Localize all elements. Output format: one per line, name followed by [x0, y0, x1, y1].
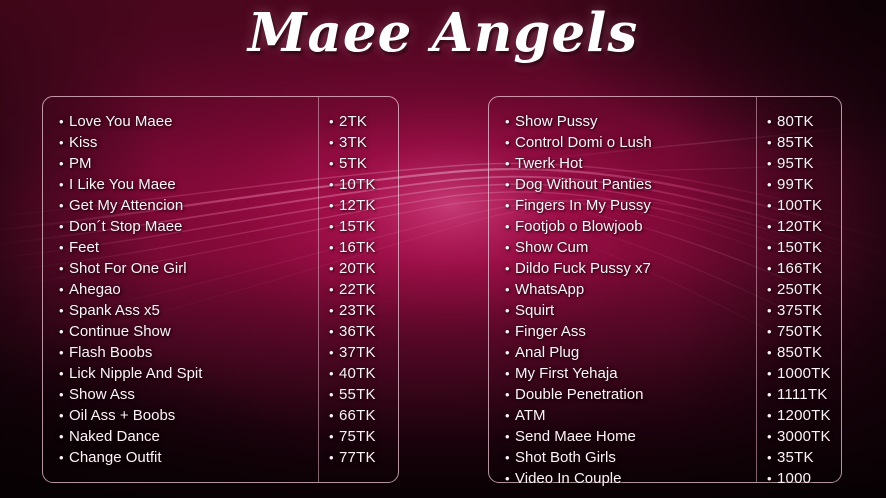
menu-item-row: •Oil Ass + Boobs [59, 405, 318, 426]
bullet-icon: • [505, 426, 515, 447]
menu-item-row: •Video In Couple [505, 468, 756, 489]
menu-item-price: 100TK [777, 197, 822, 214]
bullet-icon: • [329, 384, 339, 405]
menu-item-label: WhatsApp [515, 281, 584, 298]
menu-item-row: •Control Domi o Lush [505, 132, 756, 153]
menu-item-label: Send Maee Home [515, 428, 636, 445]
bullet-icon: • [767, 174, 777, 195]
menu-price-row: •22TK [329, 279, 398, 300]
menu-item-label: Kiss [69, 134, 97, 151]
menu-item-row: •Love You Maee [59, 111, 318, 132]
menu-item-label: Show Cum [515, 239, 588, 256]
menu-item-label: Spank Ass x5 [69, 302, 160, 319]
menu-price-row: •10TK [329, 174, 398, 195]
bullet-icon: • [329, 237, 339, 258]
menu-item-row: •Dildo Fuck Pussy x7 [505, 258, 756, 279]
menu-items-column-left: •Love You Maee•Kiss•PM•I Like You Maee•G… [43, 97, 318, 482]
bullet-icon: • [505, 237, 515, 258]
menu-item-label: Twerk Hot [515, 155, 583, 172]
menu-item-row: •Show Ass [59, 384, 318, 405]
bullet-icon: • [329, 321, 339, 342]
menu-item-row: •Feet [59, 237, 318, 258]
bullet-icon: • [767, 216, 777, 237]
bullet-icon: • [767, 363, 777, 384]
menu-item-price: 23TK [339, 302, 376, 319]
menu-item-price: 1111TK [777, 386, 827, 403]
menu-item-label: I Like You Maee [69, 176, 176, 193]
menu-item-price: 37TK [339, 344, 376, 361]
bullet-icon: • [505, 363, 515, 384]
menu-price-row: •99TK [767, 174, 841, 195]
bullet-icon: • [767, 447, 777, 468]
menu-item-label: Anal Plug [515, 344, 579, 361]
bullet-icon: • [505, 132, 515, 153]
menu-item-price: 12TK [339, 197, 376, 214]
menu-item-price: 250TK [777, 281, 822, 298]
menu-item-label: ATM [515, 407, 546, 424]
menu-price-row: •37TK [329, 342, 398, 363]
menu-item-price: 35TK [777, 449, 814, 466]
menu-item-price: 3TK [339, 134, 367, 151]
menu-item-row: •Naked Dance [59, 426, 318, 447]
bullet-icon: • [505, 321, 515, 342]
bullet-icon: • [329, 279, 339, 300]
tip-menu-card: Maee Angels •Love You Maee•Kiss•PM•I Lik… [0, 0, 886, 498]
menu-item-label: Double Penetration [515, 386, 643, 403]
menu-price-row: •20TK [329, 258, 398, 279]
bullet-icon: • [767, 321, 777, 342]
menu-item-row: •Don´t Stop Maee [59, 216, 318, 237]
bullet-icon: • [59, 300, 69, 321]
bullet-icon: • [329, 132, 339, 153]
bullet-icon: • [59, 216, 69, 237]
bullet-icon: • [59, 363, 69, 384]
bullet-icon: • [329, 342, 339, 363]
menu-item-price: 77TK [339, 449, 376, 466]
bullet-icon: • [329, 216, 339, 237]
menu-item-label: Naked Dance [69, 428, 160, 445]
menu-item-row: •Lick Nipple And Spit [59, 363, 318, 384]
menu-item-price: 10TK [339, 176, 376, 193]
menu-price-row: •80TK [767, 111, 841, 132]
menu-item-label: Show Pussy [515, 113, 598, 130]
menu-item-row: •Twerk Hot [505, 153, 756, 174]
menu-item-row: •Kiss [59, 132, 318, 153]
bullet-icon: • [767, 468, 777, 489]
menu-item-label: Dildo Fuck Pussy x7 [515, 260, 651, 277]
menu-item-row: •My First Yehaja [505, 363, 756, 384]
bullet-icon: • [767, 153, 777, 174]
menu-item-row: •ATM [505, 405, 756, 426]
menu-item-label: Control Domi o Lush [515, 134, 652, 151]
menu-price-row: •77TK [329, 447, 398, 468]
menu-item-price: 80TK [777, 113, 814, 130]
menu-price-row: •3000TK [767, 426, 841, 447]
bullet-icon: • [59, 132, 69, 153]
menu-price-row: •120TK [767, 216, 841, 237]
menu-price-row: •150TK [767, 237, 841, 258]
menu-item-price: 1000 [777, 470, 811, 487]
menu-item-label: Ahegao [69, 281, 121, 298]
menu-price-row: •850TK [767, 342, 841, 363]
menu-item-price: 20TK [339, 260, 376, 277]
menu-item-row: •Squirt [505, 300, 756, 321]
bullet-icon: • [505, 153, 515, 174]
bullet-icon: • [767, 279, 777, 300]
bullet-icon: • [329, 300, 339, 321]
bullet-icon: • [59, 321, 69, 342]
bullet-icon: • [505, 384, 515, 405]
menu-price-row: •75TK [329, 426, 398, 447]
menu-item-label: Dog Without Panties [515, 176, 652, 193]
bullet-icon: • [59, 405, 69, 426]
menu-item-row: •Continue Show [59, 321, 318, 342]
menu-item-row: •Finger Ass [505, 321, 756, 342]
menu-item-price: 95TK [777, 155, 814, 172]
bullet-icon: • [505, 342, 515, 363]
menu-price-row: •2TK [329, 111, 398, 132]
menu-item-label: Show Ass [69, 386, 135, 403]
bullet-icon: • [329, 363, 339, 384]
menu-price-row: •36TK [329, 321, 398, 342]
menu-panel-left: •Love You Maee•Kiss•PM•I Like You Maee•G… [42, 96, 399, 483]
bullet-icon: • [767, 111, 777, 132]
menu-price-row: •1000 [767, 468, 841, 489]
menu-prices-column-right: •80TK•85TK•95TK•99TK•100TK•120TK•150TK•1… [756, 97, 841, 482]
menu-price-row: •750TK [767, 321, 841, 342]
bullet-icon: • [767, 342, 777, 363]
menu-item-label: Video In Couple [515, 470, 621, 487]
bullet-icon: • [505, 300, 515, 321]
menu-item-price: 150TK [777, 239, 822, 256]
menu-item-label: PM [69, 155, 92, 172]
menu-item-label: Get My Attencion [69, 197, 183, 214]
menu-item-price: 16TK [339, 239, 376, 256]
menu-item-row: •I Like You Maee [59, 174, 318, 195]
bullet-icon: • [59, 237, 69, 258]
bullet-icon: • [59, 153, 69, 174]
menu-item-price: 750TK [777, 323, 822, 340]
menu-item-row: •PM [59, 153, 318, 174]
menu-item-price: 5TK [339, 155, 367, 172]
bullet-icon: • [505, 405, 515, 426]
menu-price-row: •15TK [329, 216, 398, 237]
menu-item-price: 75TK [339, 428, 376, 445]
menu-item-label: Flash Boobs [69, 344, 152, 361]
bullet-icon: • [59, 258, 69, 279]
menu-item-row: •Get My Attencion [59, 195, 318, 216]
bullet-icon: • [59, 342, 69, 363]
menu-item-label: Continue Show [69, 323, 171, 340]
menu-price-row: •5TK [329, 153, 398, 174]
menu-item-price: 375TK [777, 302, 822, 319]
bullet-icon: • [59, 174, 69, 195]
menu-item-price: 1200TK [777, 407, 831, 424]
menu-price-row: •100TK [767, 195, 841, 216]
bullet-icon: • [767, 195, 777, 216]
bullet-icon: • [329, 111, 339, 132]
menu-price-row: •1200TK [767, 405, 841, 426]
menu-item-price: 120TK [777, 218, 822, 235]
bullet-icon: • [505, 468, 515, 489]
menu-item-label: Shot For One Girl [69, 260, 187, 277]
menu-item-price: 1000TK [777, 365, 831, 382]
menu-price-row: •375TK [767, 300, 841, 321]
bullet-icon: • [329, 174, 339, 195]
menu-price-row: •23TK [329, 300, 398, 321]
bullet-icon: • [59, 447, 69, 468]
menu-price-row: •55TK [329, 384, 398, 405]
bullet-icon: • [767, 237, 777, 258]
menu-item-row: •Flash Boobs [59, 342, 318, 363]
menu-price-row: •1111TK [767, 384, 841, 405]
bullet-icon: • [505, 195, 515, 216]
menu-item-label: Squirt [515, 302, 554, 319]
menu-item-price: 36TK [339, 323, 376, 340]
menu-item-price: 166TK [777, 260, 822, 277]
bullet-icon: • [505, 447, 515, 468]
bullet-icon: • [59, 195, 69, 216]
bullet-icon: • [59, 279, 69, 300]
bullet-icon: • [505, 111, 515, 132]
menu-item-price: 15TK [339, 218, 376, 235]
menu-item-price: 85TK [777, 134, 814, 151]
menu-item-row: •Anal Plug [505, 342, 756, 363]
menu-item-label: Change Outfit [69, 449, 162, 466]
menu-item-label: Fingers In My Pussy [515, 197, 651, 214]
menu-item-row: •Ahegao [59, 279, 318, 300]
bullet-icon: • [329, 195, 339, 216]
menu-item-row: •Send Maee Home [505, 426, 756, 447]
menu-item-price: 55TK [339, 386, 376, 403]
menu-item-label: Don´t Stop Maee [69, 218, 182, 235]
menu-price-row: •3TK [329, 132, 398, 153]
bullet-icon: • [767, 258, 777, 279]
bullet-icon: • [767, 132, 777, 153]
bullet-icon: • [329, 153, 339, 174]
menu-price-row: •35TK [767, 447, 841, 468]
bullet-icon: • [767, 405, 777, 426]
menu-item-label: Shot Both Girls [515, 449, 616, 466]
bullet-icon: • [505, 258, 515, 279]
menu-price-row: •166TK [767, 258, 841, 279]
menu-item-label: My First Yehaja [515, 365, 618, 382]
menu-price-row: •1000TK [767, 363, 841, 384]
bullet-icon: • [329, 258, 339, 279]
bullet-icon: • [329, 405, 339, 426]
menu-item-price: 850TK [777, 344, 822, 361]
menu-item-row: •Show Cum [505, 237, 756, 258]
menu-item-row: •Shot Both Girls [505, 447, 756, 468]
menu-price-row: •95TK [767, 153, 841, 174]
menu-price-row: •16TK [329, 237, 398, 258]
page-title: Maee Angels [0, 6, 886, 62]
bullet-icon: • [767, 426, 777, 447]
bullet-icon: • [505, 216, 515, 237]
menu-item-row: •Shot For One Girl [59, 258, 318, 279]
bullet-icon: • [329, 447, 339, 468]
menu-price-row: •85TK [767, 132, 841, 153]
menu-item-row: •Fingers In My Pussy [505, 195, 756, 216]
menu-item-label: Footjob o Blowjoob [515, 218, 643, 235]
menu-item-row: •WhatsApp [505, 279, 756, 300]
menu-item-label: Feet [69, 239, 99, 256]
menu-item-row: •Change Outfit [59, 447, 318, 468]
menu-item-row: •Spank Ass x5 [59, 300, 318, 321]
menu-item-price: 40TK [339, 365, 376, 382]
bullet-icon: • [329, 426, 339, 447]
menu-item-label: Finger Ass [515, 323, 586, 340]
bullet-icon: • [767, 300, 777, 321]
menu-item-label: Lick Nipple And Spit [69, 365, 202, 382]
menu-item-price: 2TK [339, 113, 367, 130]
bullet-icon: • [505, 174, 515, 195]
menu-price-row: •40TK [329, 363, 398, 384]
menu-prices-column-left: •2TK•3TK•5TK•10TK•12TK•15TK•16TK•20TK•22… [318, 97, 398, 482]
menu-item-row: •Footjob o Blowjoob [505, 216, 756, 237]
menu-item-row: •Show Pussy [505, 111, 756, 132]
menu-item-label: Oil Ass + Boobs [69, 407, 175, 424]
menu-item-row: •Double Penetration [505, 384, 756, 405]
bullet-icon: • [59, 111, 69, 132]
menu-item-price: 22TK [339, 281, 376, 298]
menu-price-row: •12TK [329, 195, 398, 216]
menu-item-price: 99TK [777, 176, 814, 193]
bullet-icon: • [505, 279, 515, 300]
menu-item-price: 3000TK [777, 428, 831, 445]
menu-panel-right: •Show Pussy•Control Domi o Lush•Twerk Ho… [488, 96, 842, 483]
menu-items-column-right: •Show Pussy•Control Domi o Lush•Twerk Ho… [489, 97, 756, 482]
menu-price-row: •250TK [767, 279, 841, 300]
menu-item-label: Love You Maee [69, 113, 172, 130]
bullet-icon: • [59, 384, 69, 405]
menu-item-price: 66TK [339, 407, 376, 424]
bullet-icon: • [767, 384, 777, 405]
bullet-icon: • [59, 426, 69, 447]
menu-item-row: •Dog Without Panties [505, 174, 756, 195]
menu-price-row: •66TK [329, 405, 398, 426]
